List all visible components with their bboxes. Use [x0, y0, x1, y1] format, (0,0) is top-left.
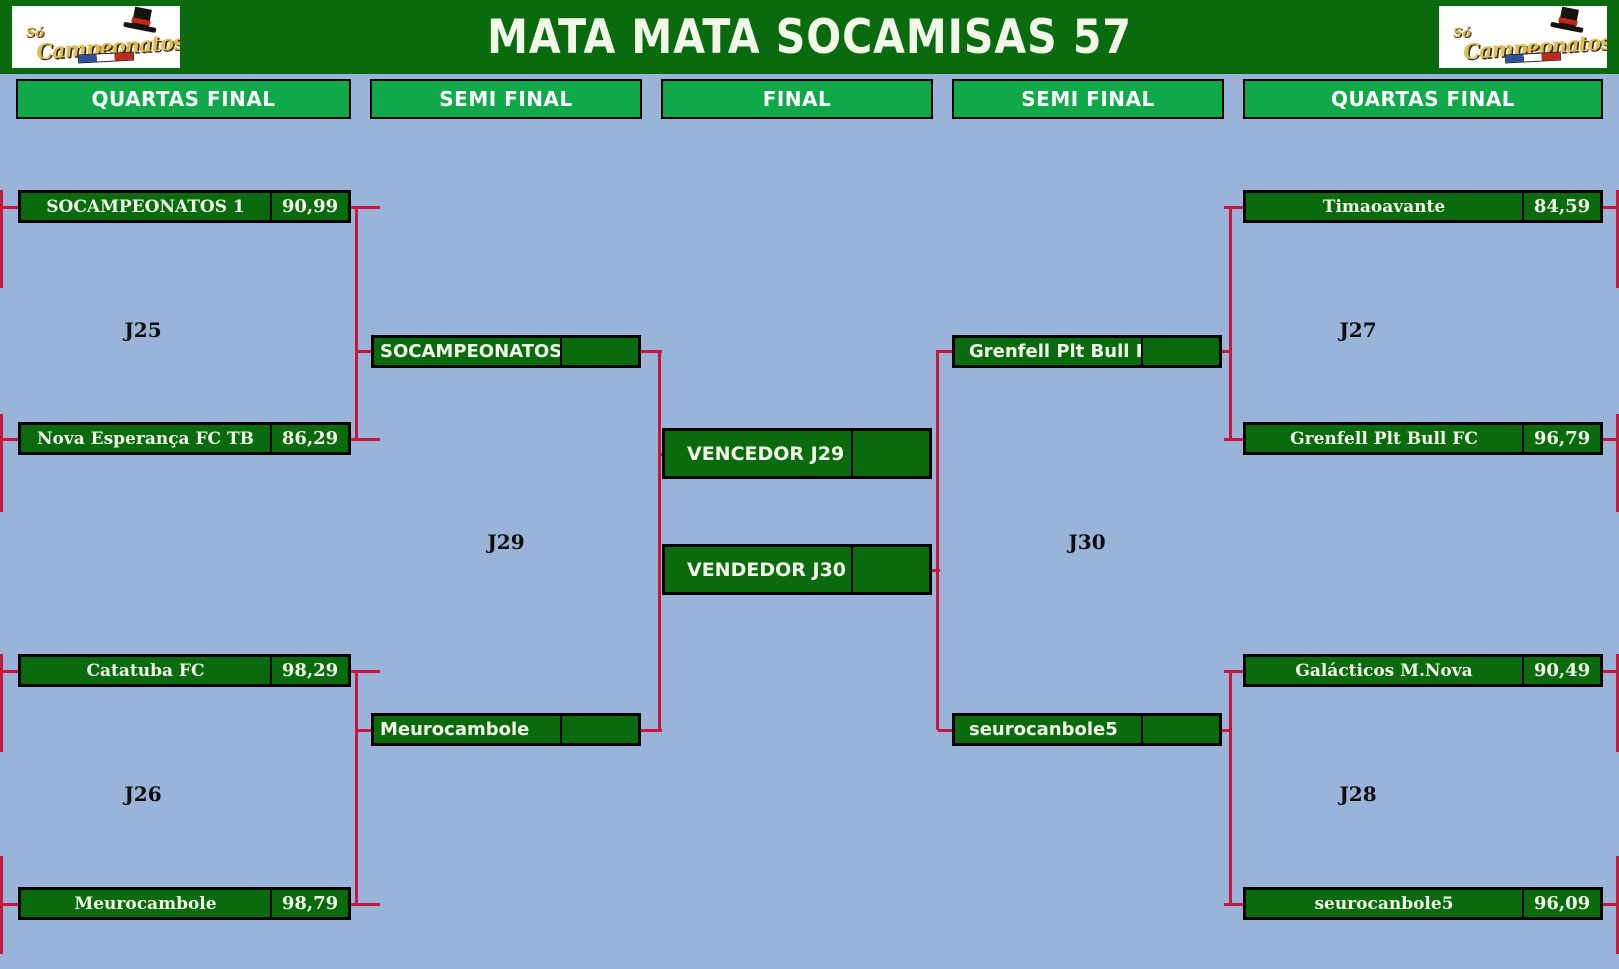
match-row-j29-top[interactable]: SOCAMPEONATOS 1: [371, 335, 641, 368]
so-campeonatos-logo-right: Só Campeonatos: [1439, 6, 1607, 68]
bracket-page: Só Campeonatos MATA MATA SOCAMISAS 57 Só…: [0, 0, 1619, 969]
team-score: [1141, 716, 1219, 743]
team-name: Grenfell Plt Bull FC: [1246, 425, 1522, 452]
page-title: MATA MATA SOCAMISAS 57: [211, 10, 1409, 65]
team-name: Timaoavante: [1246, 193, 1522, 220]
final-row-top[interactable]: VENCEDOR J29: [662, 428, 932, 479]
match-code-j27: J27: [1243, 318, 1473, 342]
connector-j26-bottom: [351, 903, 380, 906]
team-score: 90,99: [270, 193, 348, 220]
team-score: 96,09: [1522, 890, 1600, 917]
logo-flag-left: [78, 52, 134, 64]
connector-left-stub-2: [0, 438, 18, 441]
match-row-j26-bottom[interactable]: Meurocambole 98,79: [18, 887, 351, 920]
team-name: Grenfell Plt Bull FC: [955, 338, 1141, 365]
connector-right-stub-4: [1601, 903, 1619, 906]
match-row-j30-top[interactable]: Grenfell Plt Bull FC: [952, 335, 1222, 368]
team-name: seurocanbole5: [1246, 890, 1522, 917]
round-header-final: FINAL: [661, 79, 933, 119]
match-row-j27-top[interactable]: Timaoavante 84,59: [1243, 190, 1603, 223]
connector-semileft-bottom: [640, 729, 662, 732]
match-code-j25: J25: [18, 318, 268, 342]
match-row-j28-bottom[interactable]: seurocanbole5 96,09: [1243, 887, 1603, 920]
match-code-j26: J26: [18, 782, 268, 806]
team-score: 96,79: [1522, 425, 1600, 452]
connector-right-stub-2: [1601, 438, 1619, 441]
round-header-quartas-right: QUARTAS FINAL: [1243, 79, 1603, 119]
match-row-j25-bottom[interactable]: Nova Esperança FC TB 86,29: [18, 422, 351, 455]
match-code-j30: J30: [952, 530, 1222, 554]
top-hat-icon-right: [1558, 7, 1579, 32]
connector-left-edge-3: [0, 654, 3, 752]
final-slot-score: [851, 547, 929, 592]
match-row-j26-top[interactable]: Catatuba FC 98,29: [18, 654, 351, 687]
team-name: SOCAMPEONATOS 1: [21, 193, 270, 220]
final-slot-score: [851, 431, 929, 476]
team-score: [560, 338, 638, 365]
round-header-semi-right: SEMI FINAL: [952, 79, 1224, 119]
final-slot-label: VENDEDOR J30: [665, 547, 851, 592]
connector-j26-spine: [355, 670, 358, 906]
team-score: 86,29: [270, 425, 348, 452]
connector-right-stub-3: [1601, 670, 1619, 673]
team-score: 90,49: [1522, 657, 1600, 684]
team-name: seurocanbole5: [955, 716, 1141, 743]
connector-j28-spine: [1229, 670, 1232, 906]
team-name: Meurocambole: [21, 890, 270, 917]
team-score: [1141, 338, 1219, 365]
page-banner: Só Campeonatos MATA MATA SOCAMISAS 57 Só…: [0, 0, 1619, 74]
connector-j25-spine: [355, 206, 358, 438]
connector-j25-bottom: [351, 438, 380, 441]
team-name: SOCAMPEONATOS 1: [374, 338, 560, 365]
team-score: 98,29: [270, 657, 348, 684]
round-header-semi-left: SEMI FINAL: [370, 79, 642, 119]
so-campeonatos-logo-left: Só Campeonatos: [12, 6, 180, 68]
match-row-j28-top[interactable]: Galácticos M.Nova 90,49: [1243, 654, 1603, 687]
connector-left-edge-2: [0, 414, 3, 512]
connector-right-stub-1: [1601, 206, 1619, 209]
connector-left-stub-4: [0, 903, 18, 906]
match-code-j28: J28: [1243, 782, 1473, 806]
team-name: Galácticos M.Nova: [1246, 657, 1522, 684]
logo-flag-right: [1505, 52, 1561, 64]
connector-left-edge-1: [0, 190, 3, 288]
team-score: 98,79: [270, 890, 348, 917]
connector-j27-spine: [1229, 206, 1232, 438]
team-name: Meurocambole: [374, 716, 560, 743]
connector-left-stub-1: [0, 206, 18, 209]
match-code-j29: J29: [371, 530, 641, 554]
match-row-j30-bottom[interactable]: seurocanbole5: [952, 713, 1222, 746]
match-row-j25-top[interactable]: SOCAMPEONATOS 1 90,99: [18, 190, 351, 223]
connector-semileft-spine: [658, 350, 661, 730]
team-score: [560, 716, 638, 743]
final-row-bottom[interactable]: VENDEDOR J30: [662, 544, 932, 595]
connector-semiright-spine: [936, 350, 939, 730]
match-row-j27-bottom[interactable]: Grenfell Plt Bull FC 96,79: [1243, 422, 1603, 455]
top-hat-icon-left: [131, 7, 152, 32]
connector-left-stub-3: [0, 670, 18, 673]
match-row-j29-bottom[interactable]: Meurocambole: [371, 713, 641, 746]
team-name: Nova Esperança FC TB: [21, 425, 270, 452]
final-slot-label: VENCEDOR J29: [665, 431, 851, 476]
team-name: Catatuba FC: [21, 657, 270, 684]
team-score: 84,59: [1522, 193, 1600, 220]
round-header-quartas-left: QUARTAS FINAL: [16, 79, 351, 119]
